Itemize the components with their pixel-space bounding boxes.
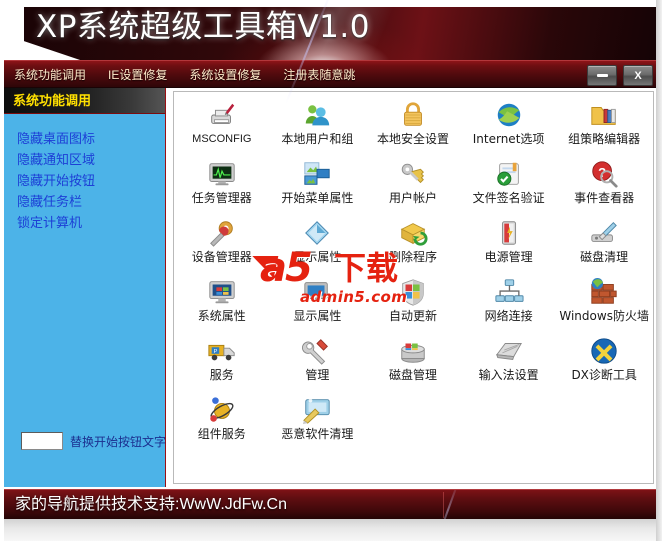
icon-cell-windows-disk[interactable]: 磁盘管理	[365, 332, 461, 391]
replace-start-button-input[interactable]	[21, 432, 63, 450]
blue-x-icon	[589, 336, 619, 366]
users-group-icon	[302, 100, 332, 130]
body-area: 系统功能调用 隐藏桌面图标 隐藏通知区域 隐藏开始按钮 隐藏任务栏 锁定计算机 …	[3, 88, 659, 489]
icon-cell-users-group[interactable]: 本地用户和组	[270, 96, 366, 155]
padlock-icon	[398, 100, 428, 130]
close-button[interactable]: X	[623, 65, 653, 86]
sidebar-item-hide-notification-area[interactable]: 隐藏通知区域	[3, 149, 165, 170]
window-controls: X	[587, 65, 653, 86]
icon-label: 电源管理	[485, 250, 533, 264]
icon-label: 显示属性	[293, 309, 341, 323]
minimize-button[interactable]	[587, 65, 617, 86]
icon-label: 设备管理器	[192, 250, 252, 264]
icon-label: DX诊断工具	[571, 368, 636, 382]
icon-cell-monitor-windows[interactable]: 系统属性	[174, 273, 270, 332]
sidebar-item-hide-desktop-icons[interactable]: 隐藏桌面图标	[3, 128, 165, 149]
minimize-icon	[597, 74, 608, 77]
icon-cell-keyboard[interactable]: 输入法设置	[461, 332, 557, 391]
icon-panel: MSCONFIG本地用户和组本地安全设置Internet选项组策略编辑器任务管理…	[173, 91, 654, 484]
icon-cell-network-nodes[interactable]: 网络连接	[461, 273, 557, 332]
status-divider	[443, 492, 444, 518]
icon-cell-component-services[interactable]: 组件服务	[174, 391, 270, 450]
icon-cell-screwdriver-wrench[interactable]: 管理	[270, 332, 366, 391]
keyboard-icon	[494, 336, 524, 366]
icon-label: 本地用户和组	[281, 132, 353, 146]
package-recycle-icon	[398, 218, 428, 248]
monitor-graph-icon	[207, 159, 237, 189]
network-nodes-icon	[494, 277, 524, 307]
monitor-broom-icon	[302, 395, 332, 425]
icon-label: MSCONFIG	[192, 132, 251, 146]
icon-cell-disk-broom[interactable]: 磁盘清理	[556, 214, 652, 273]
icon-cell-display-properties[interactable]: 显示属性	[270, 273, 366, 332]
icon-label: 磁盘管理	[389, 368, 437, 382]
icon-cell-padlock[interactable]: 本地安全设置	[365, 96, 461, 155]
icon-cell-firewall-brick[interactable]: Windows防火墙	[556, 273, 652, 332]
icon-cell-keys[interactable]: 用户帐户	[365, 155, 461, 214]
icon-label: 组件服务	[198, 427, 246, 441]
icon-cell-folder-books[interactable]: 组策略编辑器	[556, 96, 652, 155]
icon-grid: MSCONFIG本地用户和组本地安全设置Internet选项组策略编辑器任务管理…	[174, 96, 653, 450]
status-bar: 家的导航提供技术支持:WwW.JdFw.Cn	[3, 489, 659, 519]
red-question-icon: ?	[589, 159, 619, 189]
icon-label: 用户帐户	[389, 191, 437, 205]
right-edge	[656, 0, 662, 541]
check-badge-icon	[494, 159, 524, 189]
menu-item-system-settings-repair[interactable]: 系统设置修复	[186, 61, 264, 89]
application-window: XP系统超级工具箱V1.0 系统功能调用 IE设置修复 系统设置修复 注册表随意…	[0, 0, 662, 541]
start-menu-icon	[302, 159, 332, 189]
screwdriver-wrench-icon	[302, 336, 332, 366]
printer-pen-icon	[207, 100, 237, 130]
icon-cell-red-question[interactable]: ?事件查看器	[556, 155, 652, 214]
disk-broom-icon	[589, 218, 619, 248]
sidebar-item-hide-start-button[interactable]: 隐藏开始按钮	[3, 170, 165, 191]
menu-item-registry-jump[interactable]: 注册表随意跳	[280, 61, 358, 89]
icon-cell-monitor-graph[interactable]: 任务管理器	[174, 155, 270, 214]
title-banner: XP系统超级工具箱V1.0	[0, 0, 662, 62]
replace-start-button-label: 替换开始按钮文字	[70, 433, 166, 450]
icon-label: Windows防火墙	[559, 309, 649, 323]
icon-cell-check-badge[interactable]: 文件签名验证	[461, 155, 557, 214]
shield-update-icon	[398, 277, 428, 307]
component-services-icon	[207, 395, 237, 425]
icon-label: 输入法设置	[479, 368, 539, 382]
icon-label: 恶意软件清理	[281, 427, 353, 441]
icon-cell-globe-swirl[interactable]: Internet选项	[461, 96, 557, 155]
icon-label: 开始菜单属性	[281, 191, 353, 205]
replace-start-button-row: 替换开始按钮文字	[3, 429, 166, 453]
page-bottom-shadow	[0, 519, 662, 541]
blue-diamond-icon	[302, 218, 332, 248]
icon-cell-shield-update[interactable]: 自动更新	[365, 273, 461, 332]
icon-label: 系统属性	[198, 309, 246, 323]
folder-books-icon	[589, 100, 619, 130]
menu-item-list: 系统功能调用 IE设置修复 系统设置修复 注册表随意跳	[11, 61, 358, 89]
icon-cell-delivery-truck[interactable]: P服务	[174, 332, 270, 391]
icon-cell-blue-x[interactable]: DX诊断工具	[556, 332, 652, 391]
sidebar-item-lock-computer[interactable]: 锁定计算机	[3, 212, 165, 233]
status-text: 家的导航提供技术支持:WwW.JdFw.Cn	[15, 490, 287, 519]
sidebar: 系统功能调用 隐藏桌面图标 隐藏通知区域 隐藏开始按钮 隐藏任务栏 锁定计算机 …	[3, 88, 166, 487]
icon-cell-gear-wrench[interactable]: 设备管理器	[174, 214, 270, 273]
icon-label: 自动更新	[389, 309, 437, 323]
monitor-windows-icon	[207, 277, 237, 307]
icon-cell-blue-diamond[interactable]: 显示属性	[270, 214, 366, 273]
icon-cell-battery[interactable]: 电源管理	[461, 214, 557, 273]
icon-label: Internet选项	[473, 132, 545, 146]
sidebar-item-list: 隐藏桌面图标 隐藏通知区域 隐藏开始按钮 隐藏任务栏 锁定计算机	[3, 114, 165, 233]
menu-item-system-functions[interactable]: 系统功能调用	[11, 61, 89, 89]
icon-cell-printer-pen[interactable]: MSCONFIG	[174, 96, 270, 155]
icon-label: 任务管理器	[192, 191, 252, 205]
page-title: XP系统超级工具箱V1.0	[36, 4, 370, 50]
icon-label: 管理	[305, 368, 329, 382]
battery-icon	[494, 218, 524, 248]
keys-icon	[398, 159, 428, 189]
icon-cell-monitor-broom[interactable]: 恶意软件清理	[270, 391, 366, 450]
display-properties-icon	[302, 277, 332, 307]
sidebar-item-hide-taskbar[interactable]: 隐藏任务栏	[3, 191, 165, 212]
icon-label: 事件查看器	[574, 191, 634, 205]
icon-label: 网络连接	[485, 309, 533, 323]
icon-label: 显示属性	[293, 250, 341, 264]
left-edge	[0, 0, 4, 541]
menu-item-ie-repair[interactable]: IE设置修复	[105, 61, 170, 89]
icon-label: 本地安全设置	[377, 132, 449, 146]
sidebar-header: 系统功能调用	[3, 88, 165, 114]
icon-label: 删除程序	[389, 250, 437, 264]
delivery-truck-icon: P	[207, 336, 237, 366]
icon-cell-package-recycle[interactable]: 删除程序	[365, 214, 461, 273]
icon-label: 磁盘清理	[580, 250, 628, 264]
icon-label: 文件签名验证	[473, 191, 545, 205]
icon-label: 服务	[210, 368, 234, 382]
menu-bar: 系统功能调用 IE设置修复 系统设置修复 注册表随意跳 X	[3, 60, 659, 88]
globe-swirl-icon	[494, 100, 524, 130]
svg-text:P: P	[213, 349, 217, 355]
windows-disk-icon	[398, 336, 428, 366]
gear-wrench-icon	[207, 218, 237, 248]
firewall-brick-icon	[589, 277, 619, 307]
icon-cell-start-menu[interactable]: 开始菜单属性	[270, 155, 366, 214]
icon-label: 组策略编辑器	[568, 132, 640, 146]
